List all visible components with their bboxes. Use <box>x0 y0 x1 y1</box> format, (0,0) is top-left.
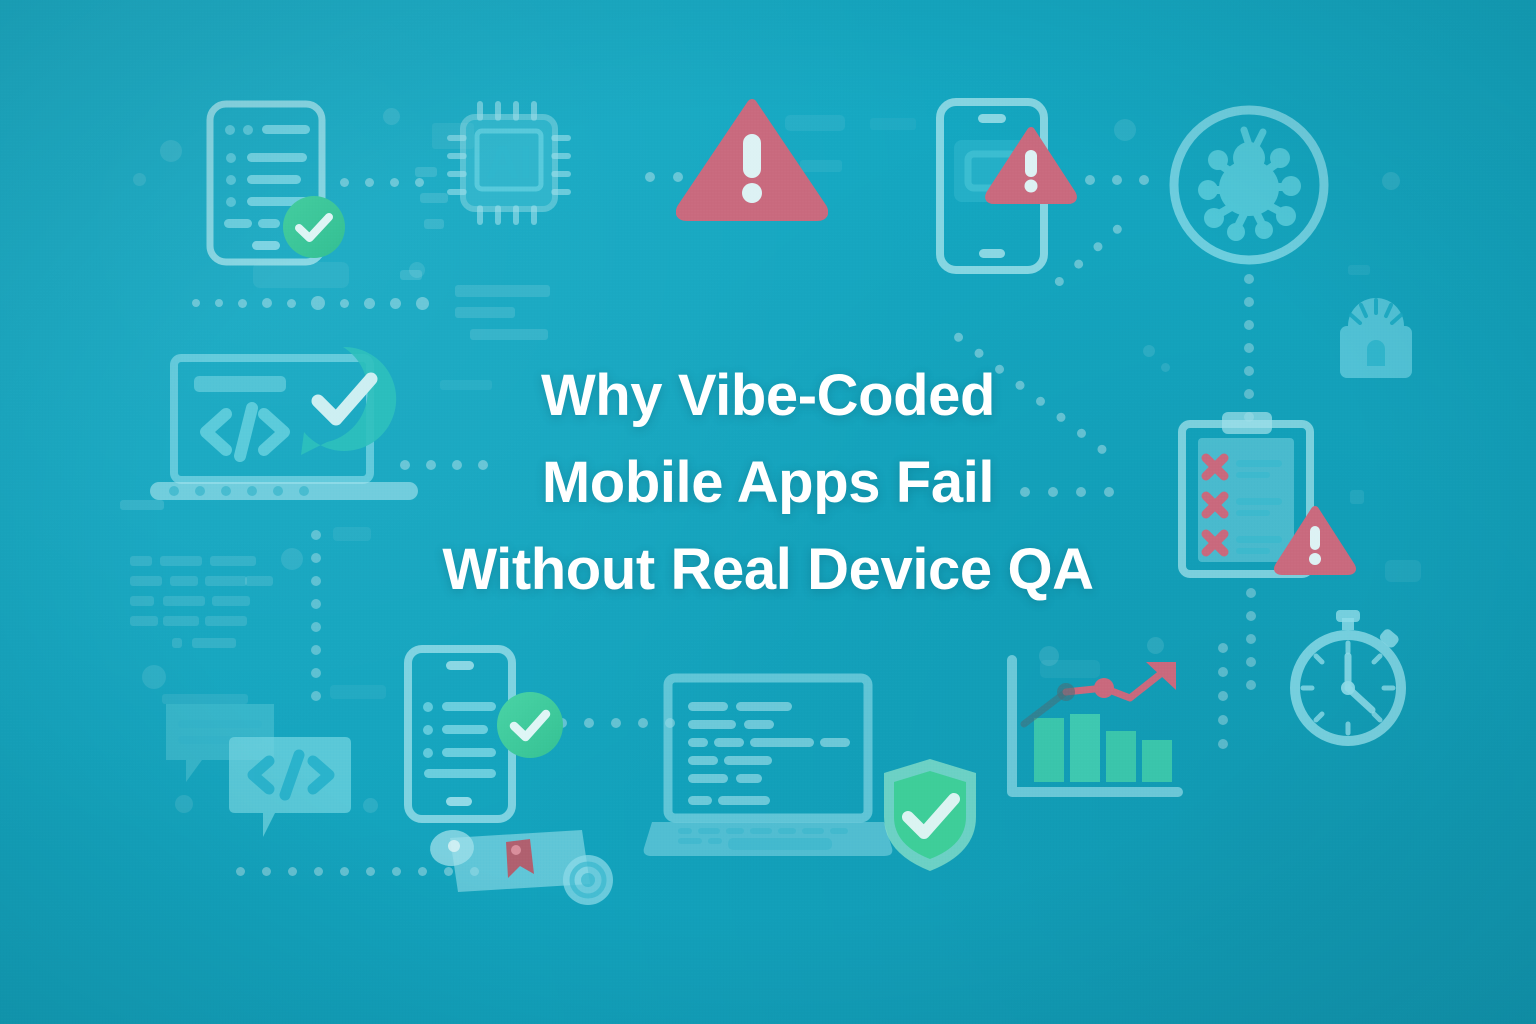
check-speech-bubble-icon <box>287 343 399 461</box>
connector-dots-vertical <box>1246 588 1256 690</box>
bug-circle-icon <box>1164 100 1334 270</box>
decor-code-bar <box>130 616 158 626</box>
laptop-code-icon <box>640 672 896 864</box>
certificate-scroll-icon <box>422 818 622 908</box>
decor-dot <box>383 108 400 125</box>
ai-chip-icon: AI <box>444 98 574 228</box>
decor-code-bar <box>470 329 548 340</box>
decor-dot <box>1143 345 1155 357</box>
decor-code-bar <box>163 616 199 626</box>
decor-code-bar <box>245 576 273 586</box>
green-check-badge <box>281 194 347 260</box>
decor-dot <box>409 262 425 278</box>
connector-dots-diagonal <box>952 331 1108 456</box>
decor-code-bar <box>415 167 437 177</box>
connector-dots <box>1085 175 1149 185</box>
decor-code-bar <box>1385 560 1421 582</box>
connector-dots <box>400 460 488 470</box>
decor-dot <box>1161 363 1170 372</box>
green-check-badge-2 <box>495 690 565 760</box>
decor-dot <box>160 140 182 162</box>
connector-dots-vertical <box>1218 643 1228 749</box>
decor-code-bar <box>424 219 444 229</box>
decor-dot <box>363 798 378 813</box>
decor-code-bar <box>440 380 492 390</box>
decor-code-bar <box>333 527 371 541</box>
decor-code-bar <box>130 596 154 606</box>
decor-dot <box>1382 172 1400 190</box>
bar-chart-trend-icon <box>1000 652 1192 812</box>
warning-triangle-icon-small-2 <box>1274 505 1356 575</box>
decor-code-bar <box>330 685 386 699</box>
chart-bars <box>1034 714 1172 782</box>
decor-code-bar <box>1350 490 1364 504</box>
decor-code-bar <box>205 576 247 586</box>
connector-dots-diagonal <box>1053 223 1124 288</box>
connector-dots <box>192 296 429 310</box>
padlock-icon <box>1326 282 1426 384</box>
ai-chip-label: AI <box>486 136 532 188</box>
decor-dot <box>281 548 303 570</box>
decor-code-bar <box>130 556 152 566</box>
decor-code-bar <box>205 616 247 626</box>
decor-dot <box>133 173 146 186</box>
decor-code-bar <box>870 118 916 130</box>
decor-code-bar <box>170 576 198 586</box>
decor-code-bar <box>130 576 162 586</box>
decor-code-bar <box>172 638 182 648</box>
connector-dots-vertical <box>1244 274 1254 422</box>
decor-code-bar <box>210 556 256 566</box>
decor-code-bar <box>212 596 250 606</box>
decor-dot <box>142 665 166 689</box>
decor-code-bar <box>192 638 236 648</box>
decor-code-bar <box>455 285 550 297</box>
decor-code-bar <box>160 556 202 566</box>
connector-dots <box>1020 487 1114 497</box>
connector-dots-vertical <box>311 530 321 701</box>
connector-dots <box>340 178 424 187</box>
decor-dot <box>1114 119 1136 141</box>
decor-code-bar <box>455 307 515 318</box>
stopwatch-icon <box>1278 608 1418 748</box>
decor-code-bar <box>1348 265 1370 275</box>
warning-triangle-icon <box>676 98 828 222</box>
poster-canvas: AI <box>0 0 1536 1024</box>
laptop-base-icon <box>150 478 418 512</box>
decor-code-bar <box>163 596 205 606</box>
warning-triangle-icon-small <box>985 126 1077 204</box>
security-shield-check-icon <box>878 755 982 875</box>
chat-code-bubble-icon <box>227 733 353 845</box>
